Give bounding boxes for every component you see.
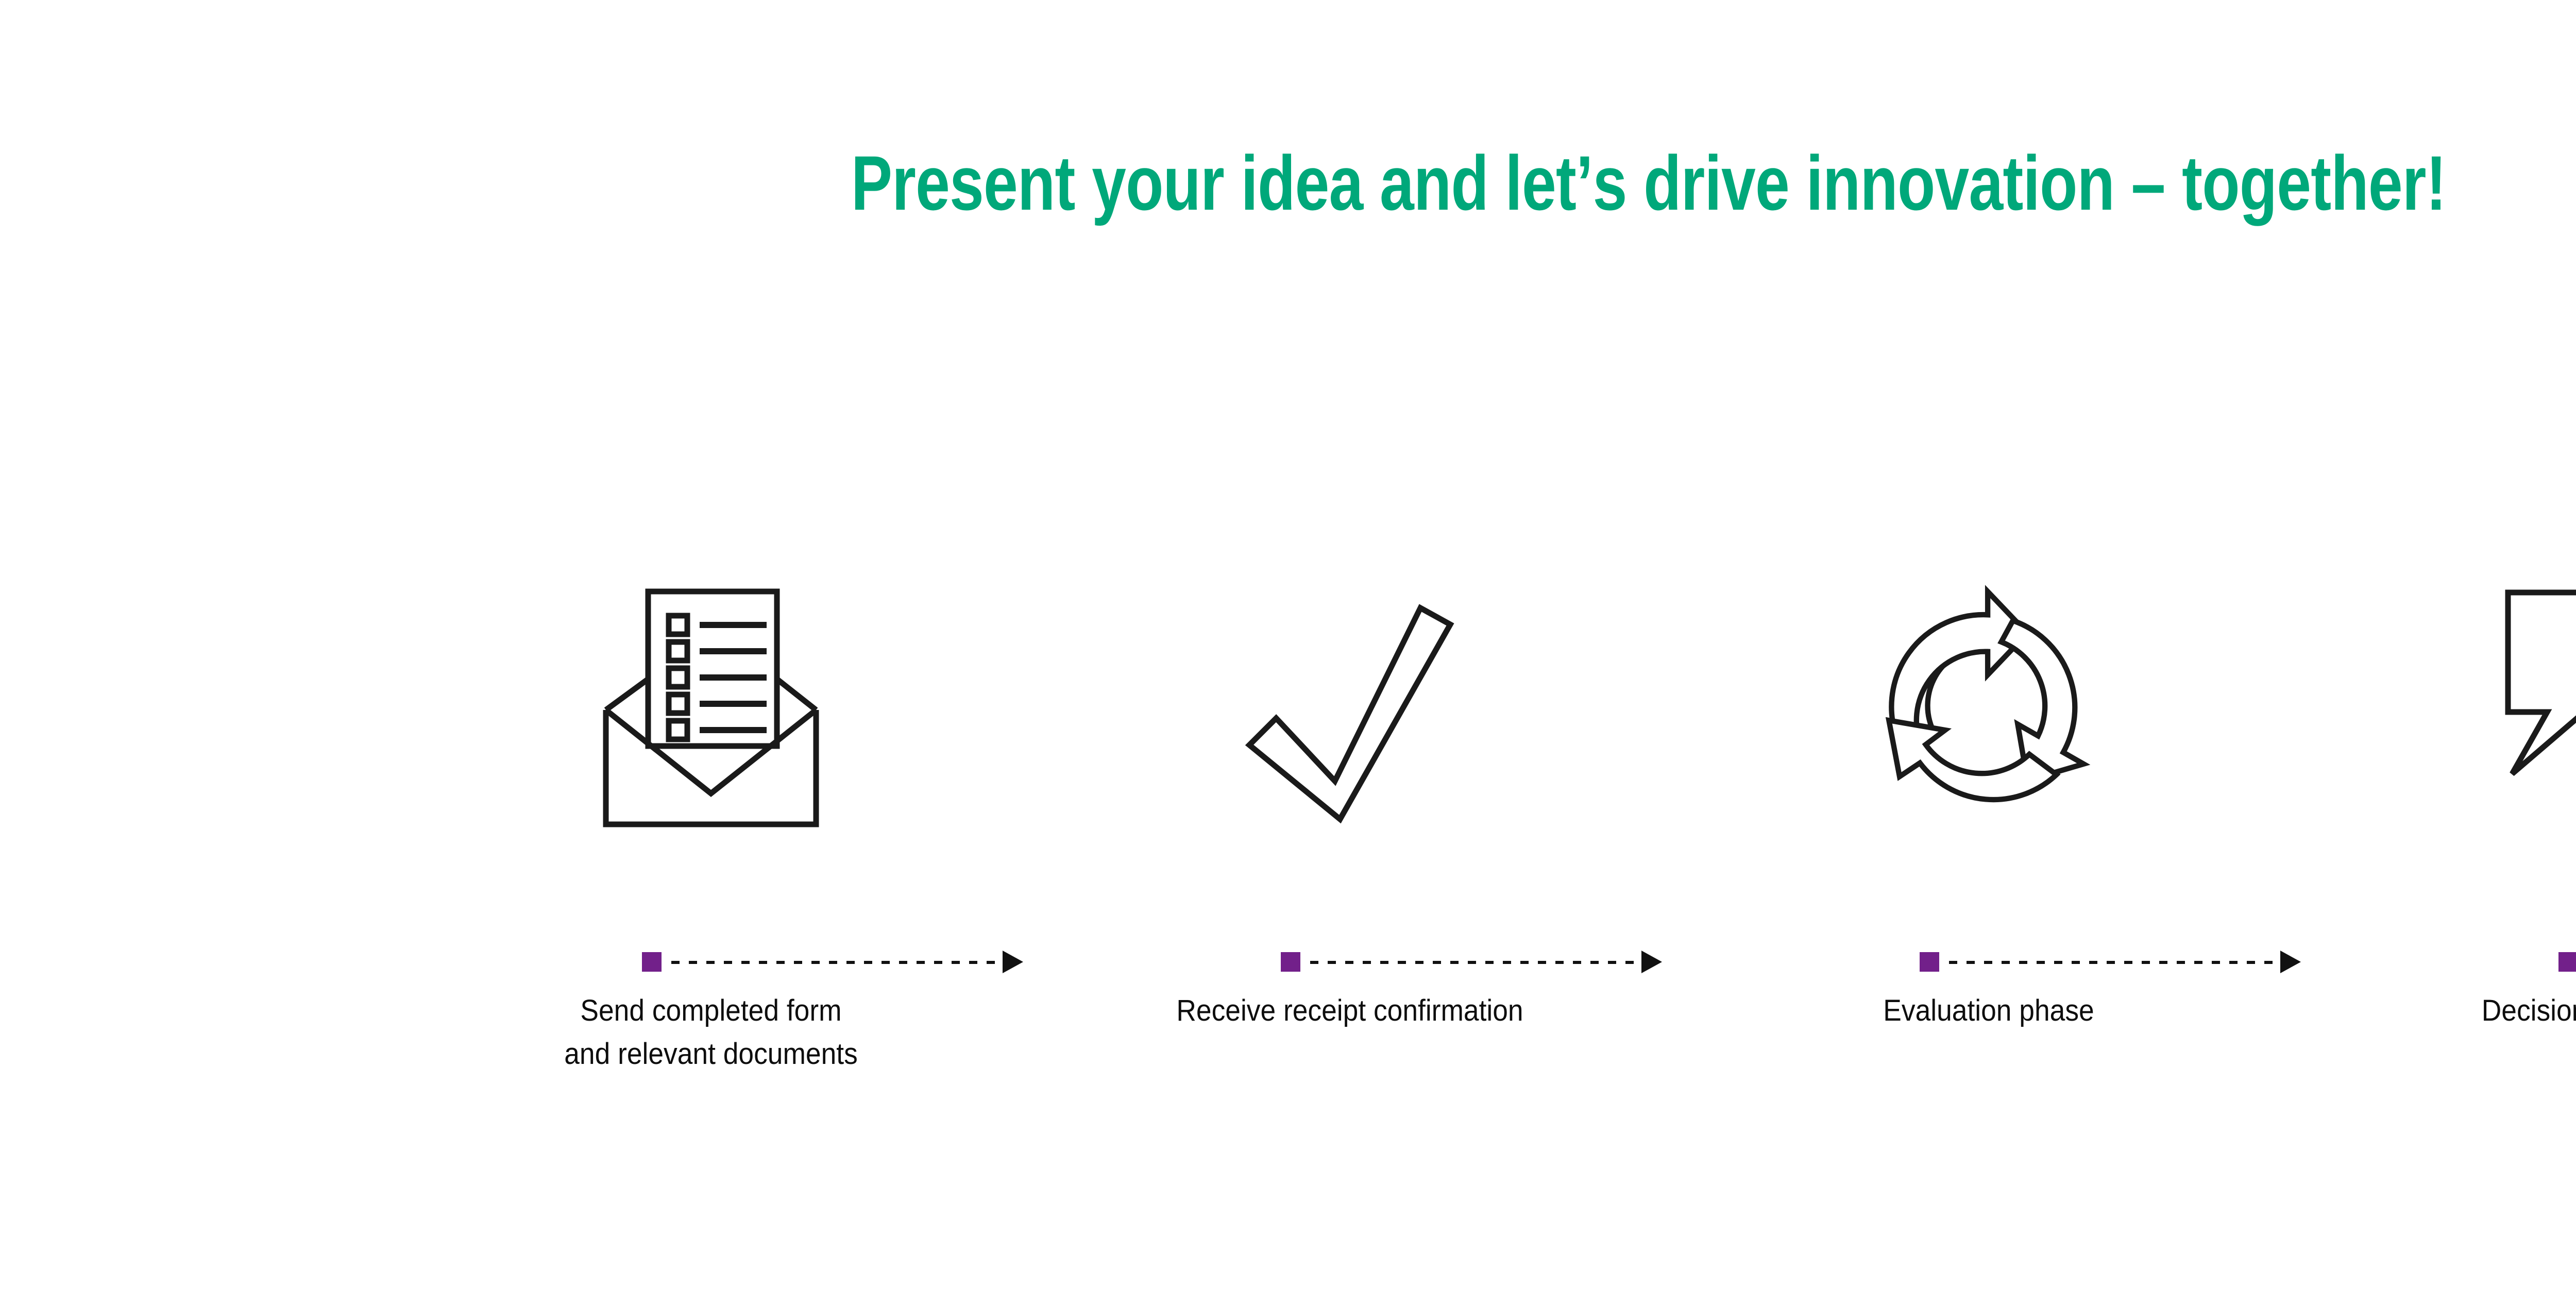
title-container: Present your idea and letʼs drive innova… [0,144,2576,222]
process-step-1[interactable]: Send completed form and relevant documen… [392,474,1030,1154]
step-2-caption-line1: Receive receipt confirmation [1056,989,1644,1032]
step-3-marker [1920,952,1939,972]
step-1-icon-box [392,474,1030,835]
step-4-timeline [2308,938,2576,984]
step-3-caption-line1: Evaluation phase [1695,989,2283,1032]
step-2-marker [1281,952,1300,972]
step-1-arrowhead-icon [1003,951,1023,973]
step-2-connector [1310,961,1640,964]
step-1-caption-line1: Send completed form [417,989,1005,1032]
step-3-arrowhead-icon [2280,951,2301,973]
step-4-marker [2558,952,2576,972]
slide-canvas: Present your idea and letʼs drive innova… [0,0,2576,1304]
step-4-caption: Decision and next steps [2308,989,2576,1032]
process-step-3[interactable]: Evaluation phase [1669,474,2308,1154]
process-step-4[interactable]: Decision and next steps [2308,474,2576,1154]
envelope-with-form-icon [587,577,835,835]
step-2-timeline [1030,938,1669,984]
checkmark-icon [1239,577,1461,835]
step-3-connector [1949,961,2279,964]
step-2-caption: Receive receipt confirmation [1030,989,1669,1032]
cycle-arrows-icon [1868,577,2110,835]
step-1-caption: Send completed form and relevant documen… [392,989,1030,1076]
step-4-caption-line1: Decision and next steps [2334,989,2576,1032]
step-3-timeline [1669,938,2308,984]
step-1-timeline [392,938,1030,984]
step-4-icon-box [2308,474,2576,835]
step-1-caption-line2: and relevant documents [417,1032,1005,1076]
step-1-connector [671,961,1001,964]
step-3-caption: Evaluation phase [1669,989,2308,1032]
speech-bubbles-icon [2494,577,2576,835]
step-2-arrowhead-icon [1641,951,1662,973]
process-step-2[interactable]: Receive receipt confirmation [1030,474,1669,1154]
step-3-icon-box [1669,474,2308,835]
page-title: Present your idea and letʼs drive innova… [851,144,2446,222]
process-steps: Send completed form and relevant documen… [392,474,2576,1154]
step-1-marker [642,952,662,972]
step-2-icon-box [1030,474,1669,835]
